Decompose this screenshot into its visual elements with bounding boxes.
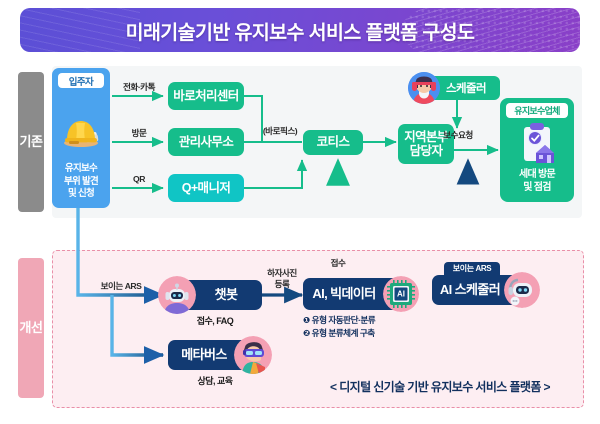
vr-avatar-icon xyxy=(234,336,272,374)
channel-label-qr: QR xyxy=(117,174,161,185)
box-q-manager[interactable]: Q+매니저 xyxy=(168,174,244,202)
resident-card-caption: 유지보수 부위 발견 및 신청 xyxy=(52,163,110,201)
label-barofix: (바로픽스) xyxy=(252,126,308,137)
box-direct-center[interactable]: 바로처리센터 xyxy=(168,82,244,110)
rail-improve: 개선 xyxy=(18,258,44,398)
svg-text:AI: AI xyxy=(397,289,405,298)
ai-bigdata-bullets: ❶ 유형 자동판단·분류 ❷ 유형 분류체계 구축 xyxy=(303,314,375,340)
label-visible-ars-left: 보이는 ARS xyxy=(86,281,156,292)
resident-card[interactable]: 입주자 유지보수 부위 발견 및 신청 xyxy=(52,68,110,208)
clipboard-house-icon xyxy=(516,122,558,166)
diagram-canvas: 미래기술기반 유지보수 서비스 플랫폼 구성도 기존 개선 xyxy=(0,0,600,424)
page-title: 미래기술기반 유지보수 서비스 플랫폼 구성도 xyxy=(20,8,580,52)
hard-hat-icon xyxy=(61,114,101,148)
chatbot-caption: 접수, FAQ xyxy=(168,314,262,327)
box-mgmt-office[interactable]: 관리사무소 xyxy=(168,128,244,156)
label-photo-upload: 하자사진 등록 xyxy=(256,268,308,289)
robot-avatar-icon xyxy=(504,272,540,308)
vendor-card-caption: 세대 방문 및 점검 xyxy=(500,168,574,194)
label-repair-request: 보수요청 xyxy=(432,130,484,141)
vendor-card[interactable]: 유지보수업체 세대 방문 및 점검 xyxy=(500,98,574,202)
ai-chip-icon: AI xyxy=(383,276,419,312)
channel-label-phone: 전화·카톡 xyxy=(117,82,161,93)
rail-existing-label: 기존 xyxy=(20,135,43,149)
metaverse-caption: 상담, 교육 xyxy=(168,374,262,387)
title-banner: 미래기술기반 유지보수 서비스 플랫폼 구성도 xyxy=(20,8,580,52)
rail-improve-label: 개선 xyxy=(20,321,43,335)
channel-label-visit: 방문 xyxy=(117,128,161,139)
rail-existing: 기존 xyxy=(18,72,44,212)
resident-card-tab: 입주자 xyxy=(58,73,104,88)
improve-footer-caption: < 디지털 신기술 기반 유지보수 서비스 플랫폼 > xyxy=(300,378,580,395)
label-intake: 접수 xyxy=(314,258,362,269)
box-cortis[interactable]: 코티스 xyxy=(303,130,363,155)
vendor-card-tab: 유지보수업체 xyxy=(506,103,568,118)
chatbot-avatar-icon xyxy=(158,276,196,314)
ai-scheduler-ars-tab: 보이는 ARS xyxy=(444,262,500,275)
operator-avatar-icon xyxy=(408,72,440,104)
